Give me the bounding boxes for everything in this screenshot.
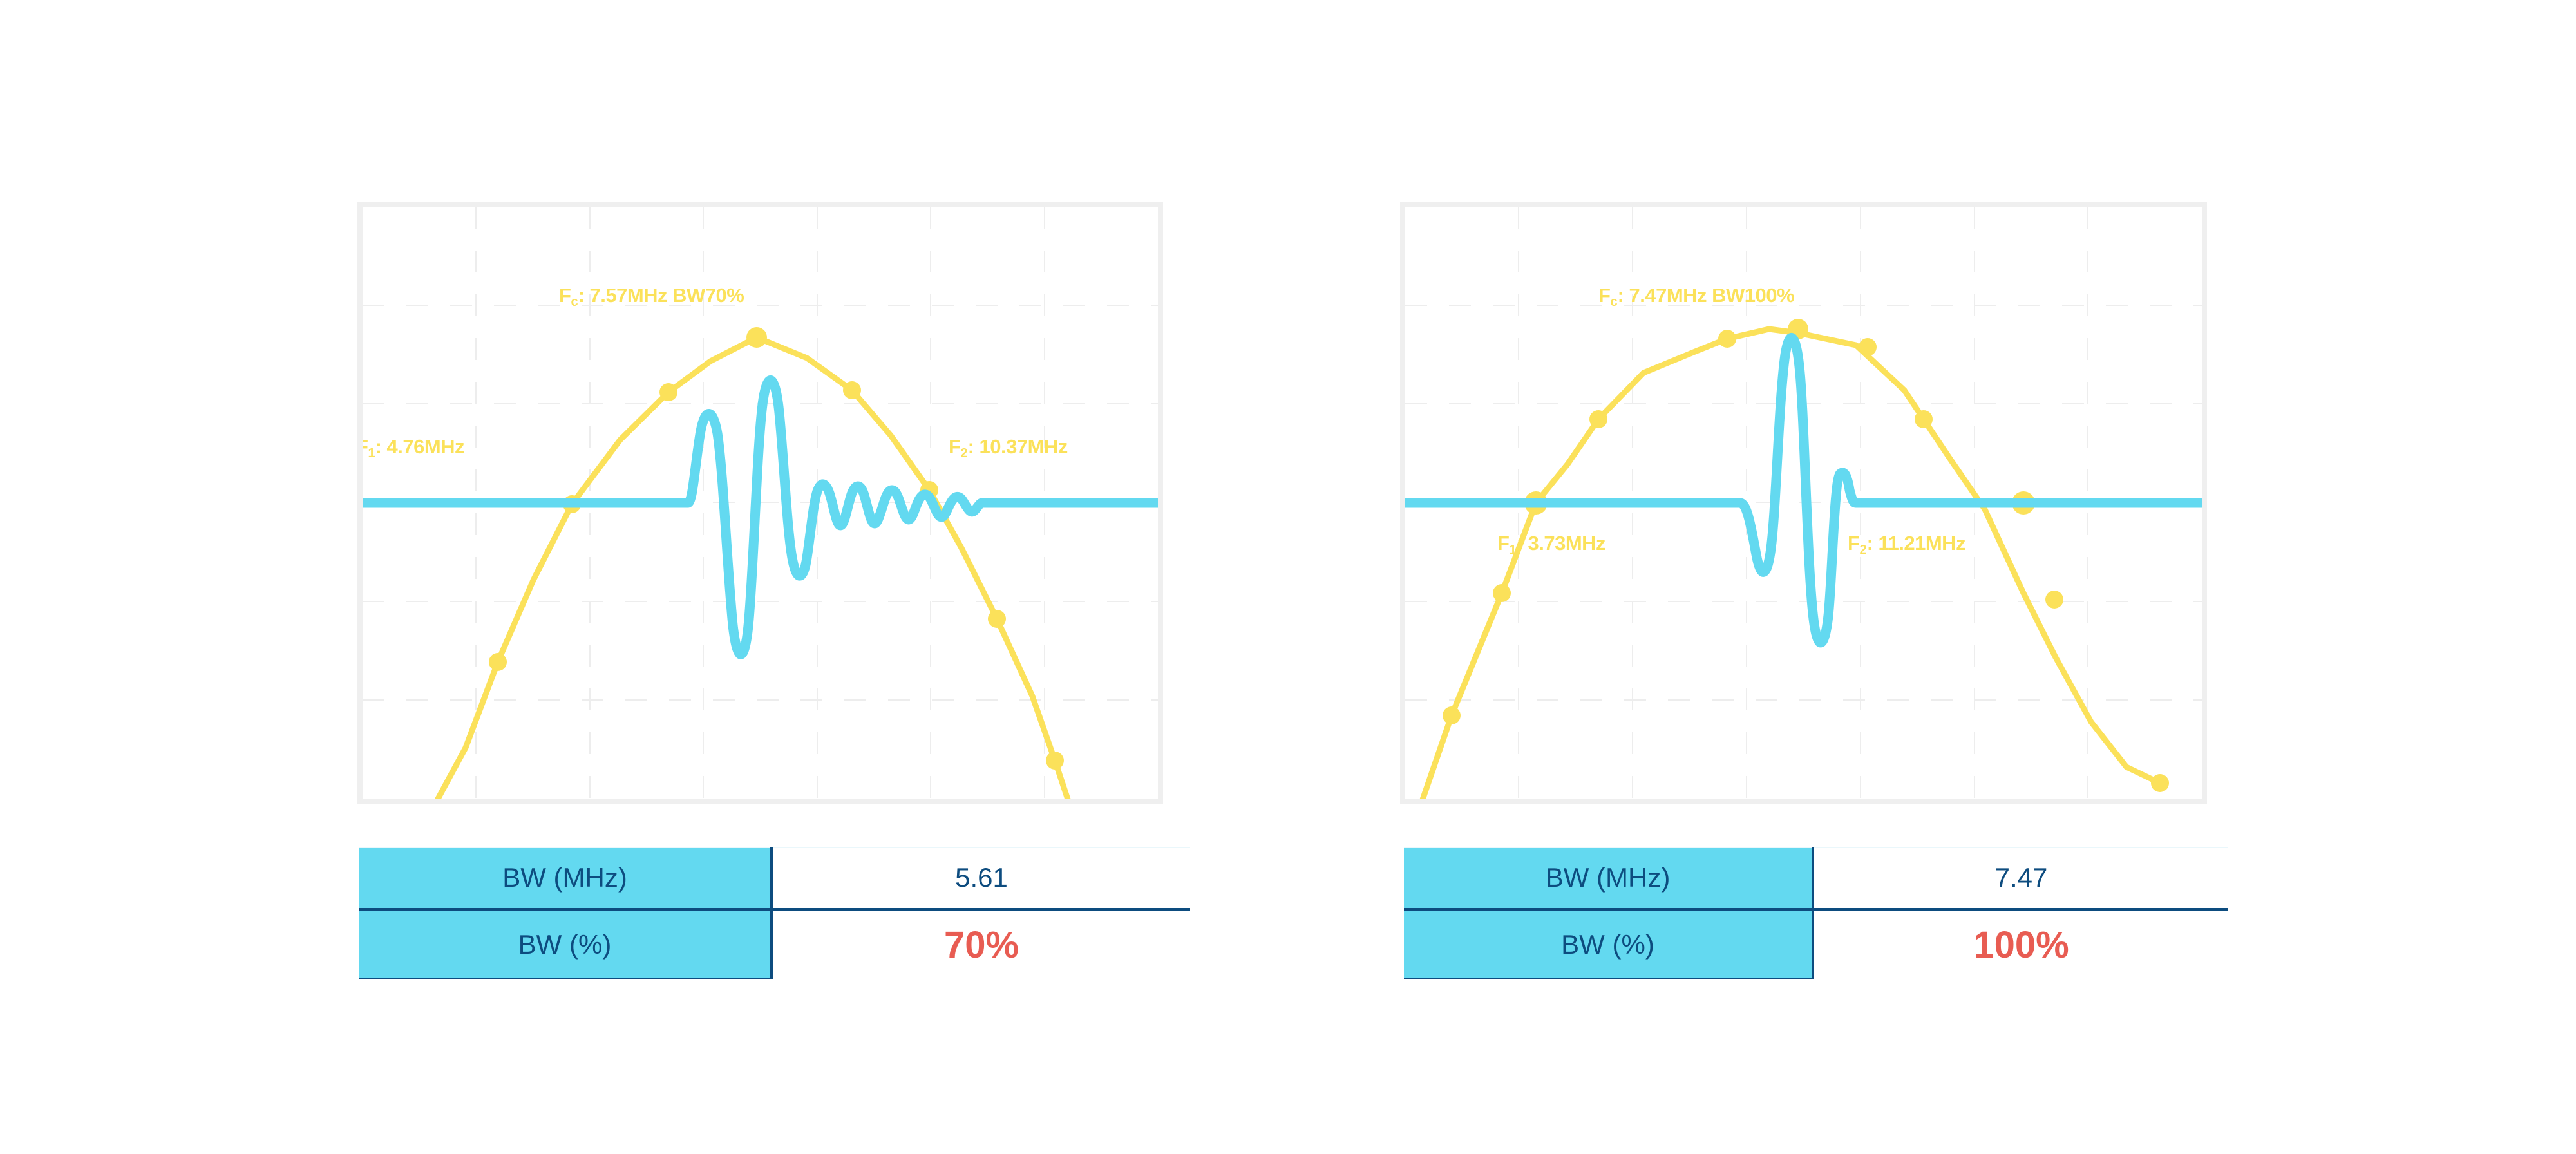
annot-sub: 2 [960,446,967,460]
table-row: BW (%) 70% [359,909,1190,979]
bandwidth-table-left: BW (MHz) 5.61 BW (%) 70% [359,847,1190,979]
annot-prefix: F [949,435,960,458]
bandwidth-table-right: BW (MHz) 7.47 BW (%) 100% [1404,847,2228,979]
spectrum-curve-left [424,337,1071,799]
spectrum-curve-right [1419,329,2160,799]
annot-sub: 1 [368,446,375,460]
annotation-center-frequency-right: Fc: 7.47MHz BW100% [1598,284,1794,310]
pulse-waveform-right [1405,337,2202,642]
chart-frame-right: Fc: 7.47MHz BW100% F1: 3.73MHz F2: 11.21… [1400,202,2207,804]
annot-text: : 11.21MHz [1867,532,1966,554]
annot-prefix: F [559,284,571,307]
annotation-lower-cutoff-left: F1: 4.76MHz [363,435,464,461]
table-row: BW (MHz) 7.47 [1404,847,2228,909]
annot-text: : 4.76MHz [375,435,464,458]
table-row: BW (%) 100% [1404,909,2228,979]
chart-frame-left: Fc: 7.57MHz BW70% F1: 4.76MHz F2: 10.37M… [357,202,1163,804]
table-row: BW (MHz) 5.61 [359,847,1190,909]
annotation-upper-cutoff-left: F2: 10.37MHz [949,435,1068,461]
annot-text: : 7.57MHz BW70% [578,284,744,307]
bw-percent-label-right: BW (%) [1404,909,1813,979]
bw-percent-value-left: 70% [772,909,1190,979]
bw-percent-value-right: 100% [1813,909,2228,979]
annot-prefix: F [1848,532,1859,554]
annot-text: : 10.37MHz [968,435,1068,458]
annot-sub: 1 [1509,543,1516,557]
annot-sub: c [571,295,578,309]
bw-mhz-value-right: 7.47 [1813,847,2228,909]
annot-text: : 7.47MHz BW100% [1618,284,1795,307]
bw-mhz-label-right: BW (MHz) [1404,847,1813,909]
chart-svg-right [1405,207,2202,799]
chart-svg-left [363,207,1158,799]
chart-plot-area-right: Fc: 7.47MHz BW100% F1: 3.73MHz F2: 11.21… [1405,207,2202,799]
chart-plot-area-left: Fc: 7.57MHz BW70% F1: 4.76MHz F2: 10.37M… [363,207,1158,799]
annot-sub: c [1610,295,1617,309]
annot-prefix: F [1598,284,1610,307]
annotation-upper-cutoff-right: F2: 11.21MHz [1848,532,1965,558]
bw-percent-label-left: BW (%) [359,909,772,979]
annotation-lower-cutoff-right: F1: 3.73MHz [1497,532,1605,558]
bw-mhz-label-left: BW (MHz) [359,847,772,909]
annot-text: : 3.73MHz [1517,532,1605,554]
annotation-center-frequency-left: Fc: 7.57MHz BW70% [559,284,744,310]
bw-mhz-value-left: 5.61 [772,847,1190,909]
annot-prefix: F [1497,532,1509,554]
annot-sub: 2 [1859,543,1866,557]
screenshot-root: Fc: 7.57MHz BW70% F1: 4.76MHz F2: 10.37M… [0,0,2576,1154]
pulse-waveform-left [363,380,1158,654]
